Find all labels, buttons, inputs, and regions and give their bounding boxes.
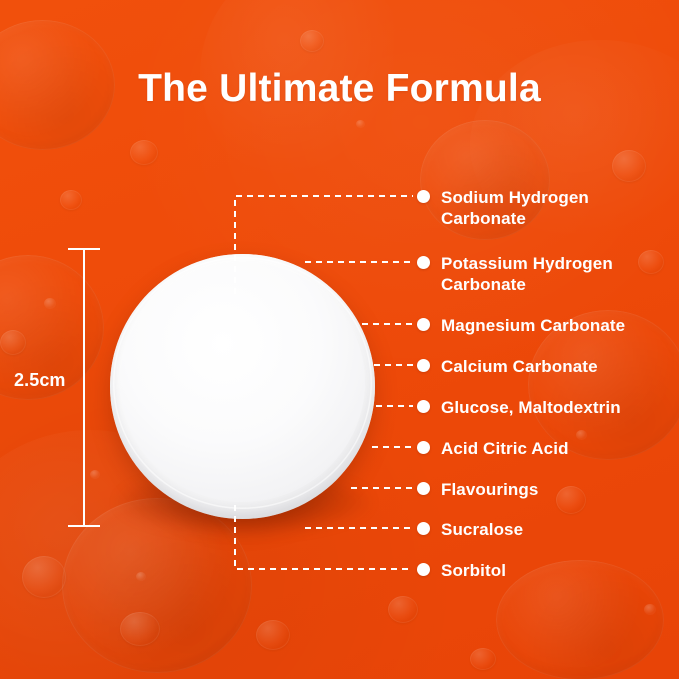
- callout-bullet: [417, 400, 430, 413]
- measure-cap-bottom: [68, 525, 100, 527]
- ingredient-label: Flavourings: [441, 479, 538, 500]
- ingredient-label: Glucose, Maltodextrin: [441, 397, 621, 418]
- ingredient-label: Sorbitol: [441, 560, 506, 581]
- ingredient-label: Potassium Hydrogen Carbonate: [441, 253, 613, 296]
- callout-bullet: [417, 482, 430, 495]
- tablet-rim-highlight: [113, 257, 372, 509]
- callout-bullet: [417, 563, 430, 576]
- callout-bullet: [417, 359, 430, 372]
- measure-label: 2.5cm: [14, 370, 66, 391]
- ingredient-label: Magnesium Carbonate: [441, 315, 625, 336]
- page-title: The Ultimate Formula: [0, 68, 679, 111]
- callout-bullet: [417, 441, 430, 454]
- callout-bullet: [417, 318, 430, 331]
- callout-bullet: [417, 522, 430, 535]
- ingredient-label: Sucralose: [441, 519, 523, 540]
- ingredient-label: Sodium Hydrogen Carbonate: [441, 187, 589, 230]
- measure-line: [83, 249, 85, 527]
- callout-bullet: [417, 190, 430, 203]
- ingredient-label: Calcium Carbonate: [441, 356, 598, 377]
- product-infographic: The Ultimate Formula 2.5cm Sodium Hydrog…: [0, 0, 679, 679]
- callout-bullet: [417, 256, 430, 269]
- ingredient-label: Acid Citric Acid: [441, 438, 569, 459]
